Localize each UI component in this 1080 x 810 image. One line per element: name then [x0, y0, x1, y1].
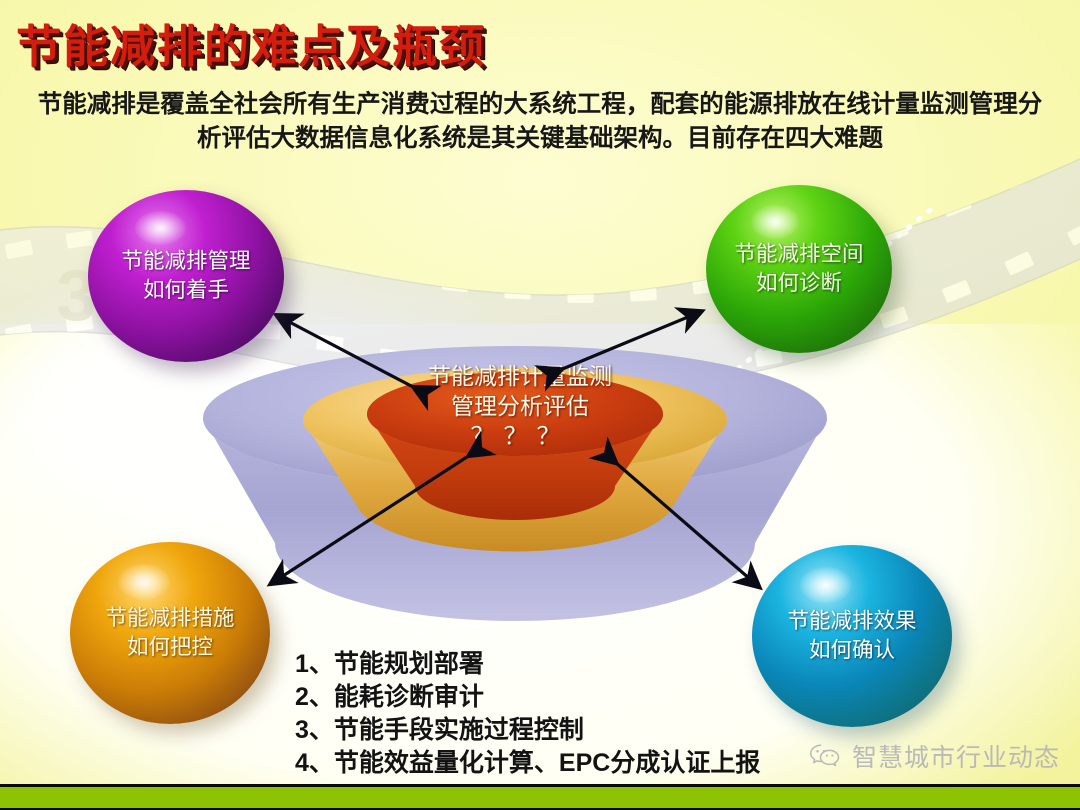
sphere-management-line1: 节能减排管理 — [121, 247, 250, 276]
sphere-space-line2: 如何诊断 — [756, 269, 842, 298]
list-item-number: 4、 — [295, 747, 334, 780]
list-item-text-after: 分成认证上报 — [610, 750, 760, 777]
list-item-text: 能耗诊断审计 — [334, 684, 484, 711]
sphere-effect-line2: 如何确认 — [809, 636, 895, 665]
list-item-text: 节能规划部署 — [334, 651, 484, 678]
sphere-space-line1: 节能减排空间 — [734, 240, 863, 269]
page-title: 节能减排的难点及瓶颈 — [16, 10, 486, 75]
slide-canvas: 3 节能减排的难点及瓶颈 节能减排是覆盖全社会所有生产消费过程的大系统工程，配套… — [0, 0, 1080, 810]
list-item: 4、节能效益量化计算、EPC分成认证上报 — [295, 747, 760, 780]
list-item: 1、节能规划部署 — [295, 648, 760, 681]
sphere-effect-line1: 节能减排效果 — [787, 607, 916, 636]
sphere-effect[interactable]: 节能减排效果 如何确认 — [752, 545, 952, 727]
wechat-icon — [809, 742, 843, 770]
subtitle-paragraph: 节能减排是覆盖全社会所有生产消费过程的大系统工程，配套的能源排放在线计量监测管理… — [30, 88, 1050, 156]
list-item-emphasis: EPC — [559, 749, 610, 777]
sphere-measures-line2: 如何把控 — [127, 633, 213, 662]
numbered-list: 1、节能规划部署 2、能耗诊断审计 3、节能手段实施过程控制 4、节能效益量化计… — [295, 648, 760, 780]
sphere-space[interactable]: 节能减排空间 如何诊断 — [706, 185, 892, 353]
watermark: 智慧城市行业动态 — [809, 738, 1060, 774]
sphere-measures[interactable]: 节能减排措施 如何把控 — [70, 542, 270, 724]
bottom-green-bar — [0, 784, 1080, 810]
sphere-management[interactable]: 节能减排管理 如何着手 — [88, 190, 284, 362]
watermark-text: 智慧城市行业动态 — [852, 738, 1060, 774]
nested-bowl-diagram — [195, 318, 835, 648]
bowl-core-top — [367, 372, 663, 456]
sphere-management-line2: 如何着手 — [143, 276, 229, 305]
list-item: 2、能耗诊断审计 — [295, 681, 760, 714]
list-item: 3、节能手段实施过程控制 — [295, 714, 760, 747]
list-item-number: 2、 — [295, 681, 334, 714]
list-item-number: 3、 — [295, 714, 334, 747]
list-item-number: 1、 — [295, 648, 334, 681]
sphere-measures-line1: 节能减排措施 — [105, 604, 234, 633]
list-item-text: 节能效益量化计算、 — [334, 750, 559, 777]
list-item-text: 节能手段实施过程控制 — [334, 717, 584, 744]
